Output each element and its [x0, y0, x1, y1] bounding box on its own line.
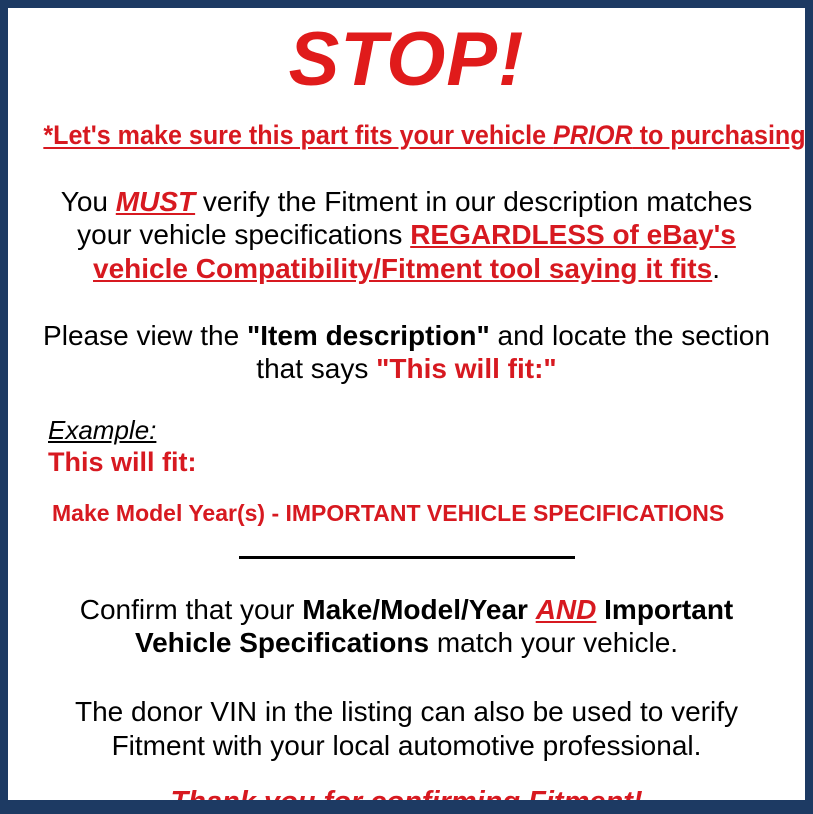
- horizontal-divider: [239, 556, 575, 559]
- tagline-part1: *Let's make sure this part fits your veh…: [43, 120, 553, 150]
- paragraph-donor-vin: The donor VIN in the listing can also be…: [40, 695, 773, 762]
- paragraph-item-description: Please view the "Item description" and l…: [40, 319, 773, 386]
- paragraph-confirm: Confirm that your Make/Model/Year AND Im…: [40, 593, 773, 660]
- stop-headline: STOP!: [8, 22, 805, 98]
- tagline-emphasis-prior: PRIOR: [553, 120, 633, 150]
- fitment-warning-banner: STOP! *Let's make sure this part fits yo…: [0, 0, 813, 814]
- divider-wrap: [8, 549, 805, 567]
- banner-inner: STOP! *Let's make sure this part fits yo…: [8, 22, 805, 814]
- example-this-will-fit: This will fit:: [48, 447, 805, 478]
- p2-bold-item-description: "Item description": [247, 320, 490, 351]
- p1-emphasis-must: MUST: [116, 186, 195, 217]
- tagline-part2: to purchasing*: [633, 120, 813, 150]
- p2-red-this-will-fit: "This will fit:": [376, 353, 557, 384]
- closing-thank-you: Thank you for confirming Fitment!: [8, 786, 805, 814]
- p3-after: match your vehicle.: [429, 627, 678, 658]
- paragraph-must-verify: You MUST verify the Fitment in our descr…: [40, 185, 773, 285]
- p2-before: Please view the: [43, 320, 247, 351]
- example-block: Example: This will fit: Make Model Year(…: [8, 416, 805, 527]
- p3-bold-make-model-year: Make/Model/Year: [302, 594, 528, 625]
- p1-after: .: [712, 253, 720, 284]
- p3-before: Confirm that your: [80, 594, 303, 625]
- example-spec-line: Make Model Year(s) - IMPORTANT VEHICLE S…: [48, 500, 805, 527]
- p1-before: You: [61, 186, 116, 217]
- tagline: *Let's make sure this part fits your veh…: [43, 120, 769, 151]
- p3-emphasis-and: AND: [536, 594, 597, 625]
- example-label: Example:: [48, 416, 156, 445]
- example-label-row: Example:: [48, 416, 805, 445]
